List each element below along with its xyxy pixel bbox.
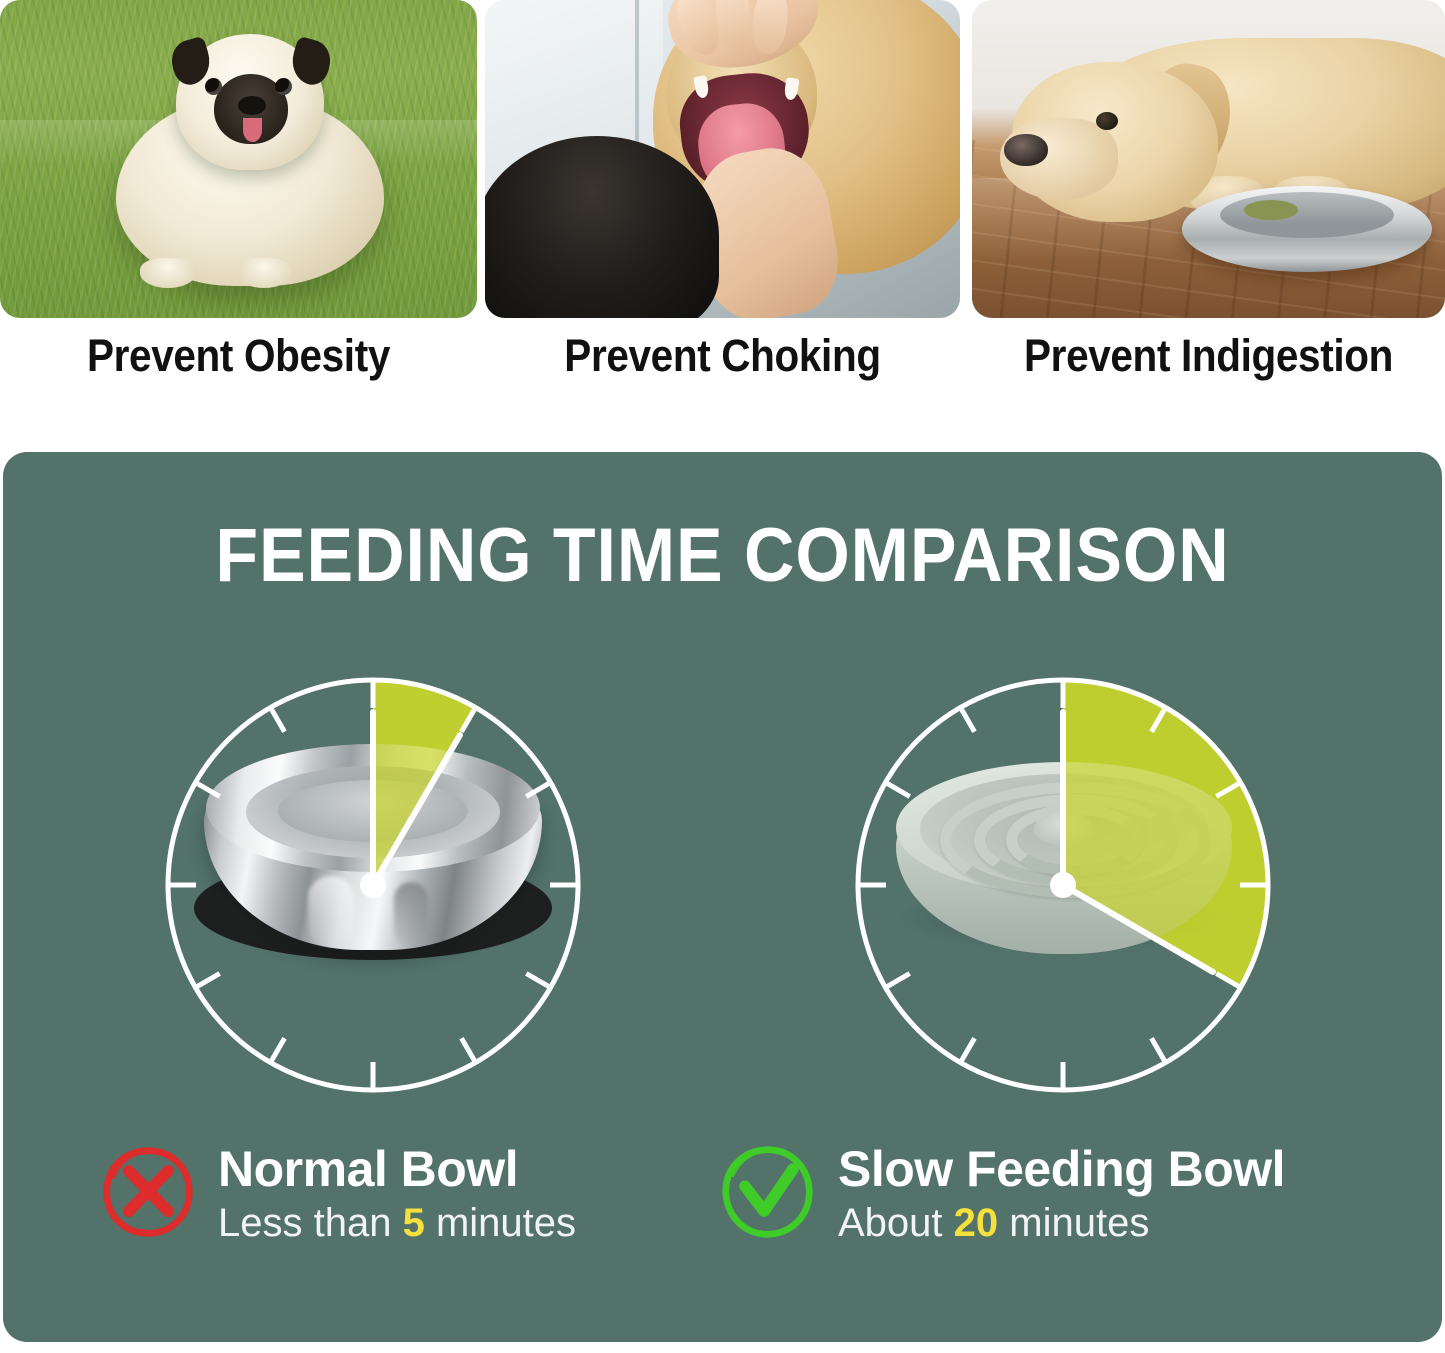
slow-bowl-suffix: minutes [1009,1201,1149,1245]
page-title: FEEDING TIME COMPARISON [61,512,1385,599]
clock-face-slow [848,670,1278,1100]
slow-bowl-minutes-value: 20 [954,1201,999,1245]
bowl-food [1244,200,1298,220]
labrador-eye [1096,112,1118,130]
photo-card-prevent-obesity [0,0,477,318]
clock-dial-normal-bowl [158,670,588,1100]
caption-prevent-obesity: Prevent Obesity [24,330,453,382]
labrador-nose [1004,134,1048,166]
normal-bowl-prefix: Less than [218,1201,391,1245]
benefit-caption-row: Prevent Obesity Prevent Choking Prevent … [0,330,1445,422]
normal-bowl-minutes-value: 5 [403,1201,425,1245]
caption-prevent-choking: Prevent Choking [509,330,937,382]
pug-on-grass-image [0,0,477,318]
hand-opening-dog-mouth-image [485,0,960,318]
result-slow-bowl-title: Slow Feeding Bowl [838,1140,1285,1198]
pug-paw-right [236,258,292,288]
result-normal-bowl-title: Normal Bowl [218,1140,576,1198]
pug-eye-right [275,78,292,95]
slow-bowl-prefix: About [838,1201,943,1245]
benefit-photo-strip [0,0,1445,318]
normal-bowl-suffix: minutes [436,1201,576,1245]
result-slow-bowl-subtitle: About 20 minutes [838,1198,1285,1248]
clock-face-normal [158,670,588,1100]
pug-nose [238,96,266,115]
result-normal-bowl-subtitle: Less than 5 minutes [218,1198,576,1248]
caption-prevent-indigestion: Prevent Indigestion [996,330,1422,382]
pug-tongue [243,118,262,142]
cross-circle-icon [100,1144,196,1240]
pug-eye-left [205,78,222,95]
photo-card-prevent-choking [485,0,960,318]
pug-paw-left [140,258,196,288]
result-normal-bowl-text: Normal Bowl Less than 5 minutes [218,1140,576,1248]
labrador-beside-bowl-image [972,0,1445,318]
photo-card-prevent-indigestion [972,0,1445,318]
steel-bowl-photo-inner [1220,192,1394,238]
clock-dial-slow-feeding-bowl [848,670,1278,1100]
result-slow-bowl-text: Slow Feeding Bowl About 20 minutes [838,1140,1285,1248]
check-circle-icon [720,1144,816,1240]
